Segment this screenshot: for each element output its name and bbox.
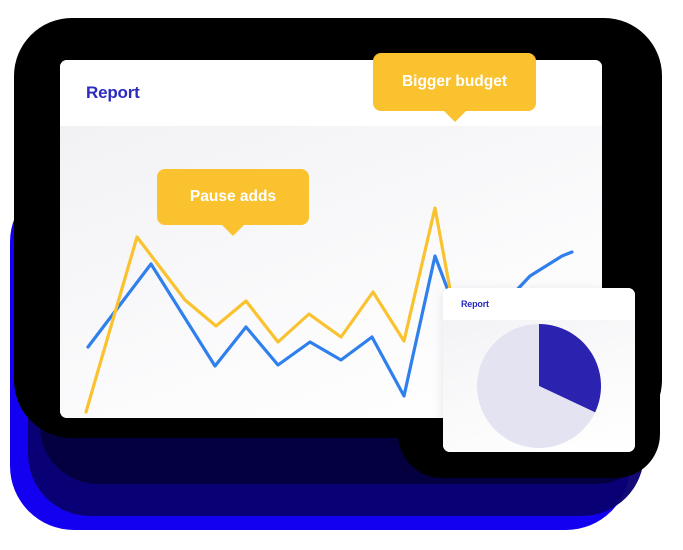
illustration-stage: Report Pause adds Bigger budget Report (0, 0, 683, 550)
report-card-small: Report (443, 288, 635, 452)
report-card-small-header: Report (443, 288, 635, 320)
callout-tail-icon (442, 109, 468, 122)
report-card-small-body (443, 320, 635, 452)
callout-tail-icon (220, 223, 246, 236)
small-card-title: Report (461, 299, 489, 309)
page-title: Report (86, 83, 140, 103)
callout-bigger-budget-label: Bigger budget (402, 73, 507, 91)
pie-chart-wrapper (443, 320, 635, 452)
callout-pause-adds[interactable]: Pause adds (157, 169, 309, 225)
callout-pause-adds-label: Pause adds (190, 188, 276, 206)
callout-bigger-budget[interactable]: Bigger budget (373, 53, 536, 111)
pie-chart (474, 321, 604, 451)
